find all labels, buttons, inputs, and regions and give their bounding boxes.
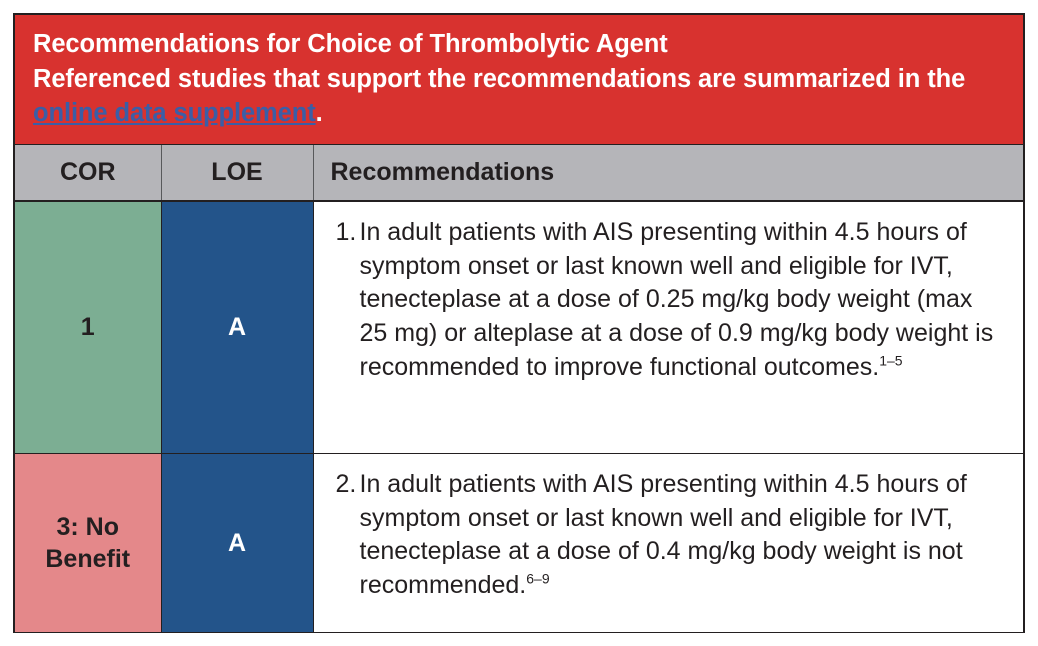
table-header-row: COR LOE Recommendations — [15, 145, 1023, 201]
reference-superscript: 6–9 — [526, 571, 549, 587]
recommendation-table-page: Recommendations for Choice of Thrombolyt… — [0, 0, 1038, 646]
online-data-supplement-link[interactable]: online data supplement — [33, 99, 316, 127]
reference-superscript: 1–5 — [879, 352, 902, 368]
table-body: 1 A 1. In adult patients with AIS presen… — [15, 201, 1023, 632]
banner-text: Recommendations for Choice of Thrombolyt… — [33, 27, 1007, 131]
column-header-cor: COR — [15, 145, 161, 201]
table-header: COR LOE Recommendations — [15, 145, 1023, 201]
recommendations-table: COR LOE Recommendations 1 A 1. In adult … — [15, 145, 1023, 632]
loe-cell: A — [161, 454, 313, 633]
recommendation-number: 1. — [336, 216, 360, 250]
banner-subtitle-suffix: . — [316, 99, 323, 127]
recommendation-number: 2. — [336, 468, 360, 502]
loe-cell: A — [161, 201, 313, 454]
table-row: 3: No Benefit A 2. In adult patients wit… — [15, 454, 1023, 633]
cor-cell: 3: No Benefit — [15, 454, 161, 633]
recommendation-body: 1. In adult patients with AIS presenting… — [314, 202, 1024, 400]
banner-title: Recommendations for Choice of Thrombolyt… — [33, 30, 668, 58]
recommendation-sentence: In adult patients with AIS presenting wi… — [360, 470, 967, 599]
recommendation-item: 1. In adult patients with AIS presenting… — [336, 216, 1002, 384]
recommendation-item: 2. In adult patients with AIS presenting… — [336, 468, 1002, 603]
banner-subtitle-prefix: Referenced studies that support the reco… — [33, 65, 965, 93]
recommendation-cell: 2. In adult patients with AIS presenting… — [313, 454, 1023, 633]
table-row: 1 A 1. In adult patients with AIS presen… — [15, 201, 1023, 454]
column-header-loe: LOE — [161, 145, 313, 201]
recommendation-table-frame: Recommendations for Choice of Thrombolyt… — [13, 13, 1025, 633]
column-header-recommendations: Recommendations — [313, 145, 1023, 201]
recommendation-text: In adult patients with AIS presenting wi… — [360, 468, 1002, 603]
recommendation-text: In adult patients with AIS presenting wi… — [360, 216, 1002, 384]
recommendation-cell: 1. In adult patients with AIS presenting… — [313, 201, 1023, 454]
cor-cell: 1 — [15, 201, 161, 454]
table-banner: Recommendations for Choice of Thrombolyt… — [15, 15, 1023, 145]
recommendation-body: 2. In adult patients with AIS presenting… — [314, 454, 1024, 619]
